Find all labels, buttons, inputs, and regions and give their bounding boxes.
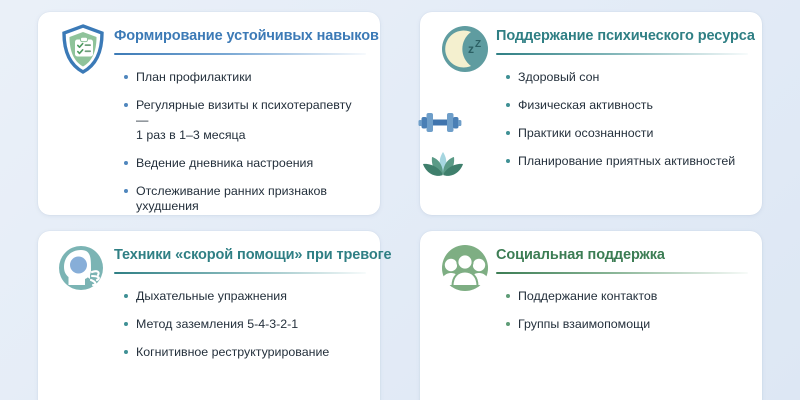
card-mental-resource[interactable]: z Z Поддержание психического ресурса <box>420 12 762 215</box>
list-item-text-line2: 1 раз в 1–3 месяца <box>136 128 364 143</box>
list-item-text: Метод заземления 5-4-3-2-1 <box>136 317 298 331</box>
list-item-text: Планирование приятных активностей <box>518 154 735 168</box>
list-item[interactable]: Группы взаимопомощи <box>506 317 746 332</box>
list-item-text: Физическая активность <box>518 98 653 112</box>
list-item-text: Регулярные визиты к психотерапевту — <box>136 98 352 127</box>
svg-text:z: z <box>468 42 474 56</box>
list-item[interactable]: Когнитивное реструктурирование <box>124 345 364 360</box>
moon-sleep-icon: z Z <box>438 22 492 76</box>
list-item[interactable]: Регулярные визиты к психотерапевту —1 ра… <box>124 98 364 143</box>
card-list: План профилактики Регулярные визиты к пс… <box>38 64 380 214</box>
list-item[interactable]: Ведение дневника настроения <box>124 156 364 171</box>
card-header: Техники «скорой помощи» при тревоге <box>38 231 380 283</box>
list-item-text: Ведение дневника настроения <box>136 156 313 170</box>
title-divider <box>496 53 748 55</box>
list-item[interactable]: Поддержание контактов <box>506 289 746 304</box>
card-list: Здоровый сон Физическая активность Практ… <box>420 64 762 169</box>
list-item-text: Здоровый сон <box>518 70 599 84</box>
card-social-support[interactable]: Социальная поддержка Поддержание контакт… <box>420 231 762 400</box>
lotus-icon <box>422 150 464 182</box>
title-divider <box>114 53 366 55</box>
card-skills[interactable]: Формирование устойчивых навыков План про… <box>38 12 380 215</box>
list-item-text: Когнитивное реструктурирование <box>136 345 329 359</box>
card-emergency-techniques[interactable]: Техники «скорой помощи» при тревоге Дыха… <box>38 231 380 400</box>
cards-grid: Формирование устойчивых навыков План про… <box>38 12 762 400</box>
card-header: Социальная поддержка <box>420 231 762 283</box>
svg-text:Z: Z <box>475 39 481 50</box>
dumbbell-icon <box>418 108 462 138</box>
list-item[interactable]: План профилактики <box>124 70 364 85</box>
card-title: Социальная поддержка <box>496 247 752 263</box>
list-item[interactable]: Планирование приятных активностей <box>506 154 746 169</box>
list-item-text: Группы взаимопомощи <box>518 317 650 331</box>
list-item-text: Отслеживание ранних признаков ухудшения <box>136 184 327 213</box>
list-item[interactable]: Отслеживание ранних признаков ухудшения <box>124 184 364 214</box>
list-item-text: Дыхательные упражнения <box>136 289 287 303</box>
list-item-text: Поддержание контактов <box>518 289 657 303</box>
people-group-icon <box>438 241 492 295</box>
card-title: Поддержание психического ресурса <box>496 28 752 44</box>
list-item[interactable]: Практики осознанности <box>506 126 746 141</box>
card-header: Формирование устойчивых навыков <box>38 12 380 64</box>
list-item-text: План профилактики <box>136 70 252 84</box>
head-breathing-icon <box>56 241 110 295</box>
title-divider <box>496 272 748 274</box>
list-item-text: Практики осознанности <box>518 126 653 140</box>
card-title: Формирование устойчивых навыков <box>114 28 370 44</box>
list-item[interactable]: Дыхательные упражнения <box>124 289 364 304</box>
title-divider <box>114 272 366 274</box>
shield-checklist-icon <box>56 22 110 76</box>
card-header: z Z Поддержание психического ресурса <box>420 12 762 64</box>
card-title: Техники «скорой помощи» при тревоге <box>114 247 370 263</box>
list-item[interactable]: Физическая активность <box>506 98 746 113</box>
list-item[interactable]: Метод заземления 5-4-3-2-1 <box>124 317 364 332</box>
list-item[interactable]: Здоровый сон <box>506 70 746 85</box>
